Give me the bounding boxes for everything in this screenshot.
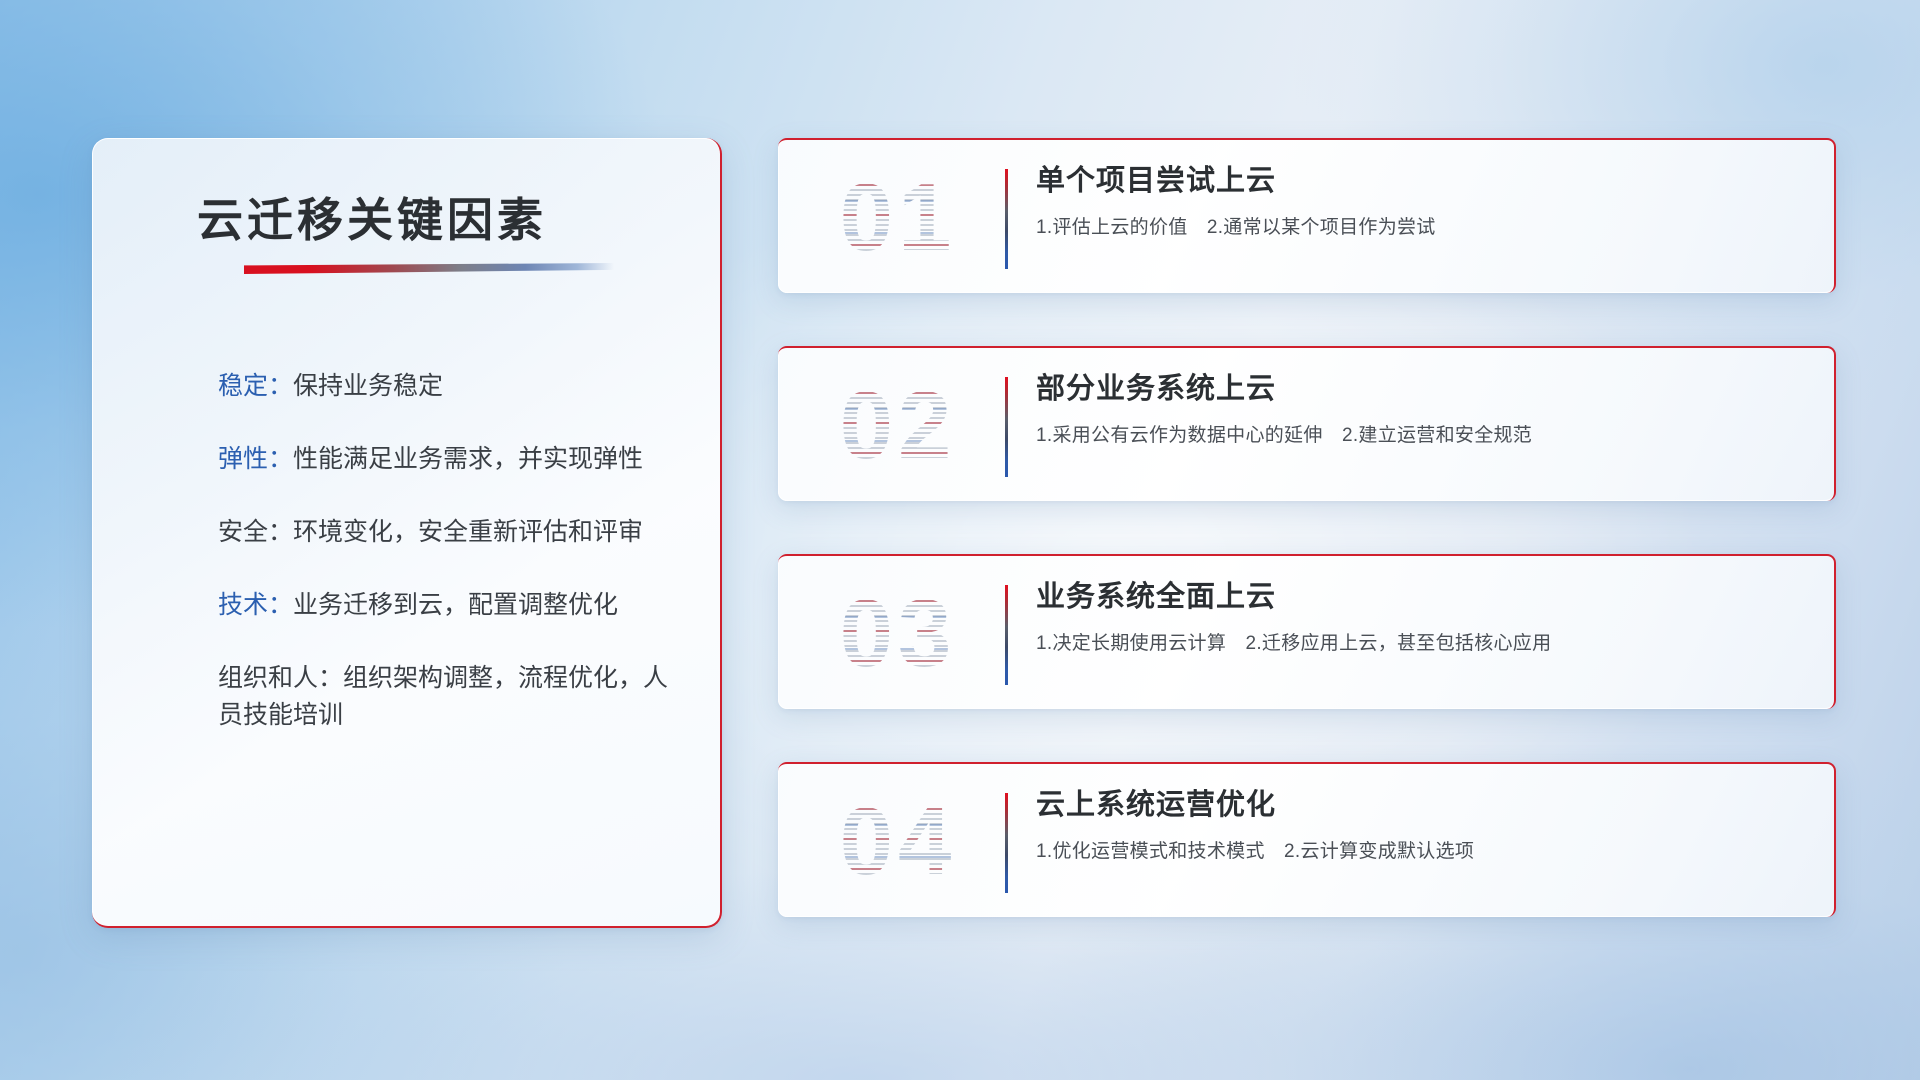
factor-label: 安全： (218, 518, 293, 546)
step-body: 云上系统运营优化 1.优化运营模式和技术模式 2.云计算变成默认选项 (1036, 787, 1810, 863)
step-card[interactable]: 03 03 业务系统全面上云 1.决定长期使用云计算 2.迁移应用上云，甚至包括… (778, 554, 1836, 709)
step-divider-line (1005, 377, 1008, 477)
list-item: 弹性：性能满足业务需求，并实现弹性 (218, 441, 690, 478)
step-card[interactable]: 01 01 单个项目尝试上云 1.评估上云的价值 2.通常以某个项目作为尝试 (778, 138, 1836, 293)
step-description: 1.优化运营模式和技术模式 2.云计算变成默认选项 (1036, 836, 1810, 863)
step-title: 单个项目尝试上云 (1036, 163, 1810, 199)
factor-text: 业务迁移到云，配置调整优化 (293, 591, 618, 619)
list-item: 安全：环境变化，安全重新评估和评审 (218, 514, 690, 551)
step-title: 云上系统运营优化 (1036, 787, 1810, 823)
step-divider-line (1005, 585, 1008, 685)
step-number-tint: 04 (808, 778, 988, 906)
migration-steps-list: 01 01 单个项目尝试上云 1.评估上云的价值 2.通常以某个项目作为尝试 0… (778, 138, 1836, 917)
list-item: 技术：业务迁移到云，配置调整优化 (218, 587, 690, 624)
step-body: 业务系统全面上云 1.决定长期使用云计算 2.迁移应用上云，甚至包括核心应用 (1036, 579, 1810, 655)
step-card[interactable]: 04 04 云上系统运营优化 1.优化运营模式和技术模式 2.云计算变成默认选项 (778, 762, 1836, 917)
step-body: 单个项目尝试上云 1.评估上云的价值 2.通常以某个项目作为尝试 (1036, 163, 1810, 239)
factor-label: 弹性： (218, 445, 293, 473)
step-description: 1.采用公有云作为数据中心的延伸 2.建立运营和安全规范 (1036, 420, 1810, 447)
step-divider-line (1005, 169, 1008, 269)
factor-label: 稳定： (218, 372, 293, 400)
title-underline-accent (244, 263, 614, 274)
factor-text: 环境变化，安全重新评估和评审 (293, 518, 643, 546)
step-number-tint: 02 (808, 362, 988, 490)
factor-label: 组织和人： (218, 664, 343, 692)
step-number-tint: 03 (808, 570, 988, 698)
step-number-tint: 01 (808, 154, 988, 282)
list-item: 组织和人：组织架构调整，流程优化，人员技能培训 (218, 660, 690, 734)
step-description: 1.评估上云的价值 2.通常以某个项目作为尝试 (1036, 212, 1810, 239)
step-divider-line (1005, 793, 1008, 893)
page-title: 云迁移关键因素 (197, 184, 547, 250)
step-title: 部分业务系统上云 (1036, 371, 1810, 407)
slide-stage: 云迁移关键因素 稳定：保持业务稳定 弹性：性能满足业务需求，并实现弹性 安全：环… (0, 0, 1920, 1080)
key-factors-list: 稳定：保持业务稳定 弹性：性能满足业务需求，并实现弹性 安全：环境变化，安全重新… (218, 368, 690, 734)
factor-text: 保持业务稳定 (293, 372, 443, 400)
key-factors-card: 云迁移关键因素 稳定：保持业务稳定 弹性：性能满足业务需求，并实现弹性 安全：环… (92, 138, 722, 928)
list-item: 稳定：保持业务稳定 (218, 368, 690, 405)
factor-label: 技术： (218, 591, 293, 619)
factor-text: 性能满足业务需求，并实现弹性 (293, 445, 643, 473)
step-description: 1.决定长期使用云计算 2.迁移应用上云，甚至包括核心应用 (1036, 628, 1810, 655)
step-body: 部分业务系统上云 1.采用公有云作为数据中心的延伸 2.建立运营和安全规范 (1036, 371, 1810, 447)
step-card[interactable]: 02 02 部分业务系统上云 1.采用公有云作为数据中心的延伸 2.建立运营和安… (778, 346, 1836, 501)
step-title: 业务系统全面上云 (1036, 579, 1810, 615)
